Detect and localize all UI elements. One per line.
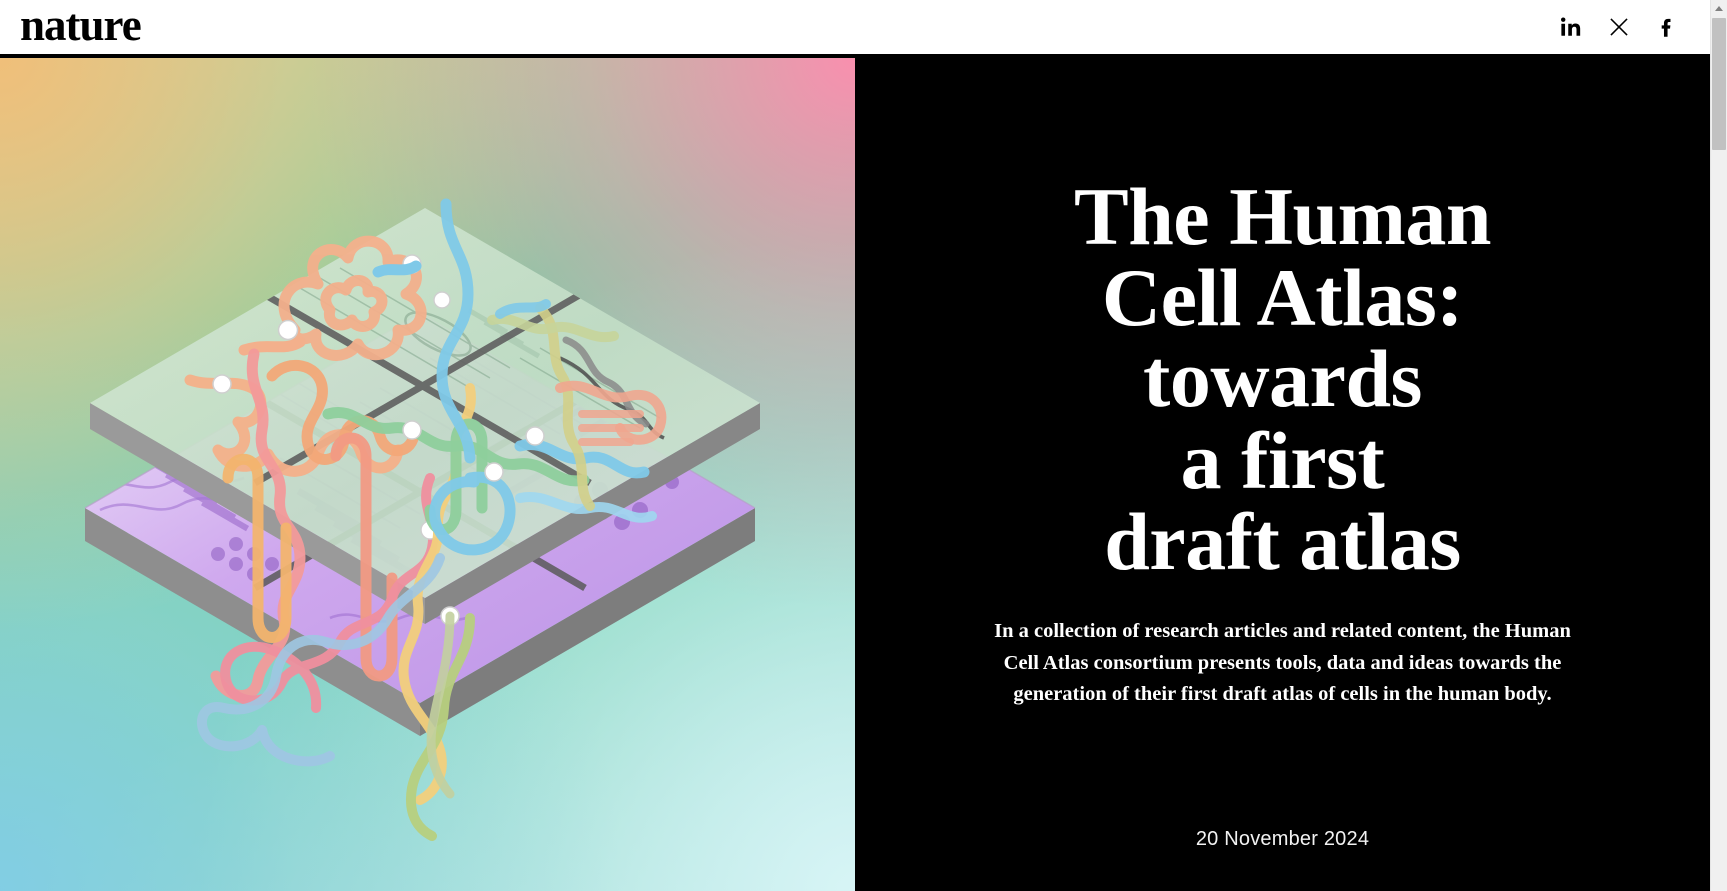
nature-logo[interactable]: nature [20,3,141,52]
hero-standfirst: In a collection of research articles and… [983,616,1583,711]
title-line-1: The Human [1074,171,1491,262]
linkedin-icon[interactable] [1558,14,1584,40]
site-header: nature [0,0,1710,58]
isometric-cell-atlas-map-illustration [0,58,855,891]
page-root: nature [0,0,1727,891]
facebook-icon[interactable] [1654,14,1680,40]
scroll-thumb[interactable] [1712,18,1726,150]
illustration-svg [0,58,855,891]
title-line-4: a first [1181,415,1385,506]
title-line-5: draft atlas [1104,496,1461,587]
social-links [1558,14,1680,40]
scroll-up-arrow-icon[interactable] [1711,0,1727,17]
triangle-up-icon [1715,6,1723,11]
page-title: The Human Cell Atlas: towards a first dr… [1074,176,1491,582]
x-twitter-icon[interactable] [1606,14,1632,40]
title-line-3: towards [1143,333,1422,424]
vertical-scrollbar[interactable] [1710,0,1727,891]
title-line-2: Cell Atlas: [1102,252,1463,343]
hero-copy-panel: The Human Cell Atlas: towards a first dr… [855,58,1710,891]
hero-section: The Human Cell Atlas: towards a first dr… [0,58,1710,891]
publication-date: 20 November 2024 [855,828,1710,851]
